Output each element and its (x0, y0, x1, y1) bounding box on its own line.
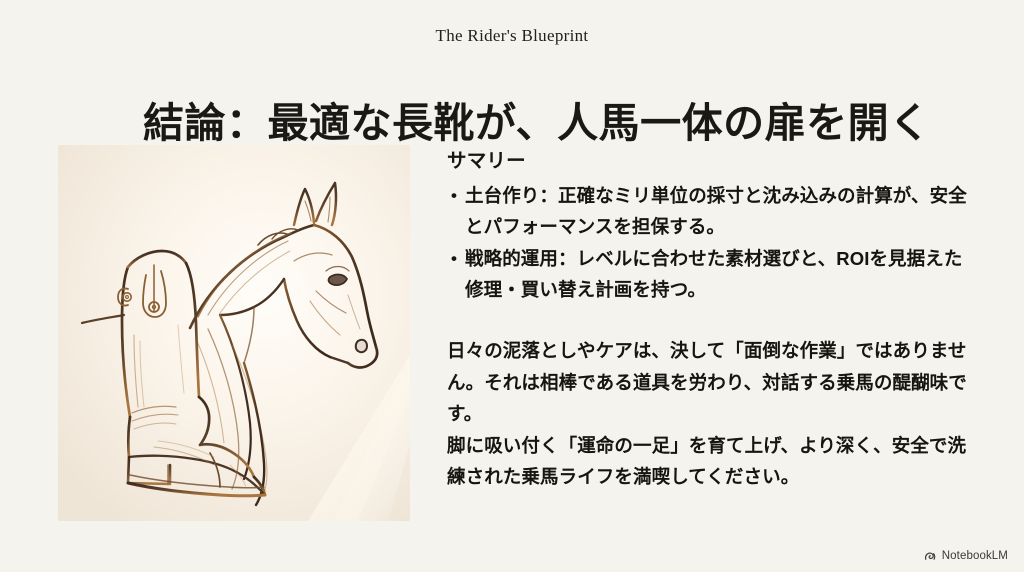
list-item: • 戦略的運用：レベルに合わせた素材選びと、ROIを見据えた修理・買い替え計画を… (447, 243, 969, 305)
notebooklm-watermark: NotebookLM (924, 549, 1008, 562)
notebooklm-spiral-icon (924, 549, 937, 562)
bullet-marker-icon: • (451, 243, 457, 274)
summary-bullet-list: • 土台作り：正確なミリ単位の採寸と沈み込みの計算が、安全とパフォーマンスを担保… (447, 180, 969, 305)
illustration-panel (58, 145, 410, 521)
body-paragraphs: 日々の泥落としやケアは、決して「面倒な作業」ではありません。それは相棒である道具… (447, 335, 969, 493)
list-item-text: 土台作り：正確なミリ単位の採寸と沈み込みの計算が、安全とパフォーマンスを担保する… (465, 185, 967, 237)
list-item-text: 戦略的運用：レベルに合わせた素材選びと、ROIを見据えた修理・買い替え計画を持つ… (465, 248, 962, 300)
content-column: サマリー • 土台作り：正確なミリ単位の採寸と沈み込みの計算が、安全とパフォーマ… (447, 146, 969, 493)
list-item: • 土台作り：正確なミリ単位の採寸と沈み込みの計算が、安全とパフォーマンスを担保… (447, 180, 969, 242)
body-paragraph-1: 日々の泥落としやケアは、決して「面倒な作業」ではありません。それは相棒である道具… (447, 335, 969, 430)
page-title: 結論：最適な長靴が、人馬一体の扉を開く (143, 97, 923, 149)
body-paragraph-2: 脚に吸い付く「運命の一足」を育て上げ、より深く、安全で洗練された乗馬ライフを満喫… (447, 430, 969, 493)
bullet-marker-icon: • (451, 180, 457, 211)
horse-and-boot-illustration (58, 145, 410, 521)
summary-heading: サマリー (447, 146, 969, 176)
notebooklm-watermark-label: NotebookLM (942, 550, 1008, 562)
slide-eyebrow-title: The Rider's Blueprint (0, 26, 1024, 46)
slide-canvas: The Rider's Blueprint 結論：最適な長靴が、人馬一体の扉を開… (0, 0, 1024, 572)
